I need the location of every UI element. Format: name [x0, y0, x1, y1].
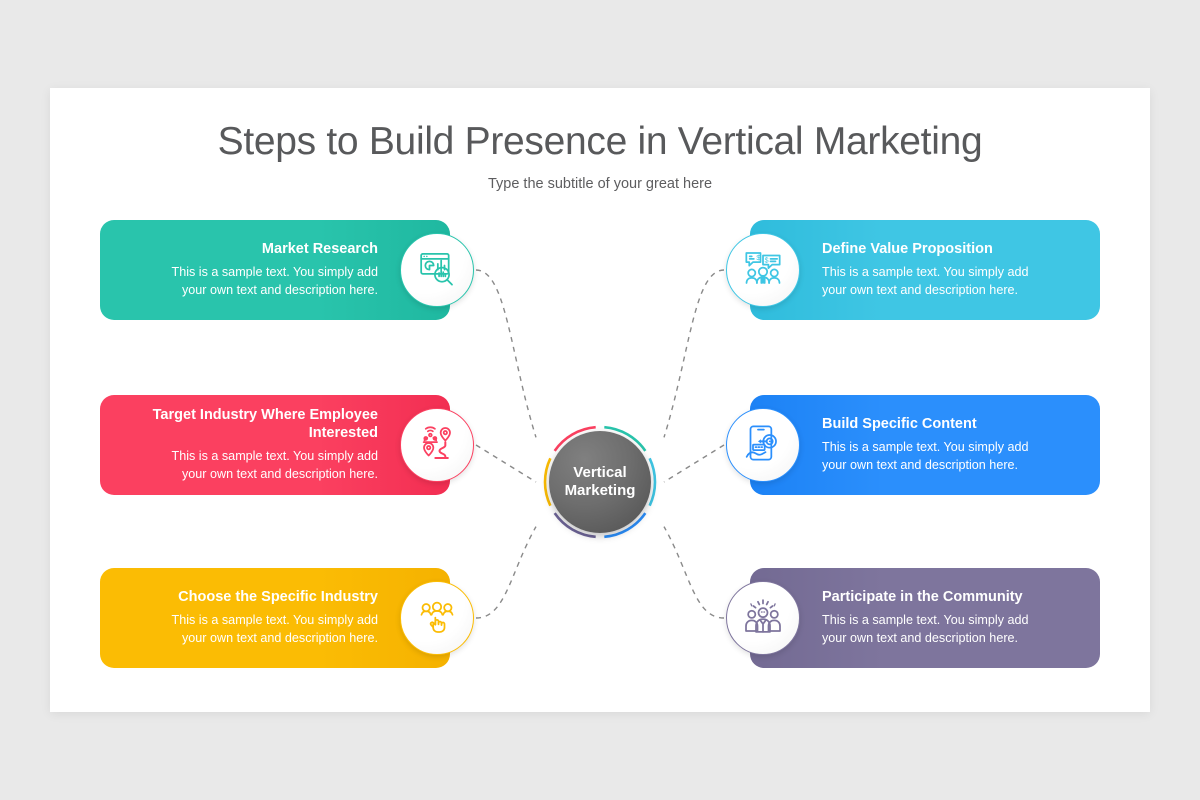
icon-bubble-value-proposition[interactable]: $ $: [726, 233, 800, 307]
svg-text:$: $: [756, 254, 760, 262]
slide-canvas: Steps to Build Presence in Vertical Mark…: [50, 88, 1150, 712]
connector-market-research: [476, 270, 536, 437]
icon-bubble-specific-content[interactable]: [726, 408, 800, 482]
community-people-icon: [743, 596, 783, 641]
select-people-icon: [417, 596, 457, 641]
center-hub[interactable]: Vertical Marketing: [538, 420, 662, 544]
icon-bubble-community[interactable]: [726, 581, 800, 655]
icon-bubble-market-research[interactable]: [400, 233, 474, 307]
route-location-icon: [417, 423, 457, 468]
svg-text:$: $: [765, 256, 769, 264]
hub-label: Vertical Marketing: [565, 464, 636, 501]
connector-target-industry: [476, 445, 536, 482]
icon-bubble-target-industry[interactable]: [400, 408, 474, 482]
connector-lines: [50, 88, 1150, 712]
connector-specific-content: [664, 445, 724, 482]
connector-community: [664, 527, 724, 618]
chat-people-icon: $ $: [743, 248, 783, 293]
mobile-target-icon: [743, 423, 783, 468]
icon-bubble-choose-industry[interactable]: [400, 581, 474, 655]
connector-choose-industry: [476, 527, 536, 618]
hub-core: Vertical Marketing: [549, 431, 651, 533]
chart-search-icon: [417, 248, 457, 293]
connector-value-proposition: [664, 270, 724, 437]
